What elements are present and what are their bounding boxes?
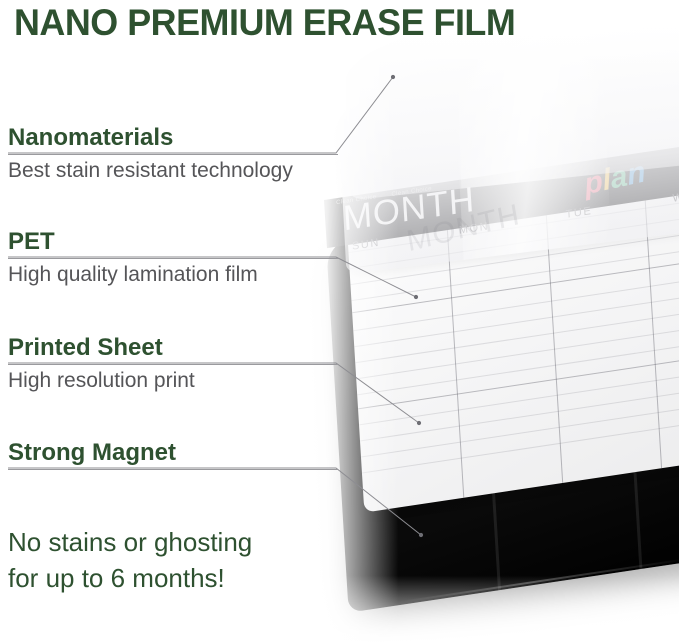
closing-line-2: for up to 6 months! — [8, 560, 252, 596]
page-title: NANO PREMIUM ERASE FILM — [14, 2, 515, 44]
callout-title: Printed Sheet — [8, 334, 338, 362]
callout-subtitle: Best stain resistant technology — [8, 157, 338, 184]
closing-line-1: No stains or ghosting — [8, 524, 252, 560]
closing-tagline: No stains or ghosting for up to 6 months… — [8, 524, 252, 596]
day-label: SUN — [352, 237, 380, 253]
callout-rule — [8, 469, 338, 470]
callout-title: Nanomaterials — [8, 124, 338, 152]
nano-erase-film-infographic: Clean Choice Clean Choice MONTH plan SUN… — [0, 0, 679, 644]
script-letter: n — [625, 153, 648, 195]
product-photo: Clean Choice Clean Choice MONTH plan SUN… — [300, 22, 679, 644]
callout-title: Strong Magnet — [8, 439, 338, 467]
callout-nanomaterials: Nanomaterials Best stain resistant techn… — [8, 124, 338, 184]
script-plan-word: plan — [582, 153, 648, 204]
callout-pet: PET High quality lamination film — [8, 228, 338, 288]
callout-subtitle: High quality lamination film — [8, 261, 338, 288]
callout-rule — [8, 364, 338, 365]
callout-strong-magnet: Strong Magnet — [8, 439, 338, 470]
callout-rule — [8, 154, 338, 155]
day-label: TUE — [565, 205, 592, 221]
callout-subtitle: High resolution print — [8, 367, 338, 394]
callout-rule — [8, 258, 338, 259]
callout-title: PET — [8, 228, 338, 256]
callout-printed-sheet: Printed Sheet High resolution print — [8, 334, 338, 394]
